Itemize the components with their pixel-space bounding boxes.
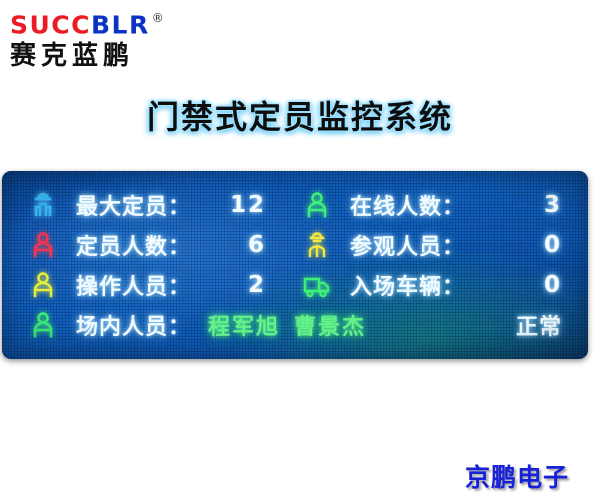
label-text: 在线人数： — [350, 189, 465, 221]
label-text: 参观人员： — [350, 229, 465, 261]
person-visitor-icon — [302, 225, 332, 265]
row-value-visitor-count: 0 — [494, 225, 562, 265]
led-content: 最大定员： 12 在线人数： — [2, 171, 588, 359]
label-text: 入场车辆： — [350, 269, 465, 301]
page-title: 门禁式定员监控系统 — [0, 92, 600, 138]
onsite-name: 程军旭 — [208, 309, 280, 341]
person-helmet-glyph — [30, 190, 56, 220]
person-helmet-icon — [28, 185, 58, 225]
label-text: 操作人员： — [76, 269, 191, 301]
person-visitor-glyph — [304, 230, 330, 260]
onsite-name: 曹景杰 — [294, 309, 366, 341]
value-text: 2 — [248, 272, 266, 298]
row-value-entered-vehicles: 0 — [494, 265, 562, 305]
row-value-online-count: 3 — [494, 185, 562, 225]
row-value-assigned-count: 6 — [208, 225, 266, 265]
led-row-onsite: 场内人员： 程军旭 曹景杰 正常 — [2, 305, 588, 345]
row-value-max-capacity: 12 — [208, 185, 266, 225]
value-text: 0 — [544, 232, 562, 258]
person-red-icon — [28, 225, 58, 265]
footer-company-logo: 京鹏电子 — [465, 458, 569, 494]
truck-icon — [302, 265, 332, 305]
value-text: 12 — [230, 192, 266, 218]
person-onsite-glyph — [30, 310, 56, 340]
onsite-name-list: 程军旭 曹景杰 — [208, 305, 478, 345]
person-red-glyph — [30, 230, 56, 260]
label-text: 场内人员： — [76, 309, 191, 341]
brand-logo: SUCCBLR® 赛克蓝鹏 — [10, 6, 210, 70]
brand-chinese-name: 赛克蓝鹏 — [10, 40, 210, 72]
led-display-panel: 最大定员： 12 在线人数： — [2, 171, 588, 359]
led-row: 最大定员： 12 在线人数： — [2, 185, 588, 225]
value-text: 0 — [544, 272, 562, 298]
person-online-glyph — [304, 190, 330, 220]
brand-wordmark-red: SUCC — [10, 10, 91, 39]
label-text: 定员人数： — [76, 229, 191, 261]
registered-trademark-icon: ® — [152, 11, 164, 25]
label-text: 最大定员： — [76, 189, 191, 221]
person-operator-glyph — [30, 270, 56, 300]
led-row: 定员人数： 6 — [2, 225, 588, 265]
led-row: 操作人员： 2 入场车辆： — [2, 265, 588, 305]
value-text: 6 — [248, 232, 266, 258]
brand-wordmark: SUCCBLR® — [10, 6, 210, 39]
person-online-icon — [302, 185, 332, 225]
person-operator-icon — [28, 265, 58, 305]
brand-wordmark-blue: BLR — [91, 10, 150, 39]
status-text: 正常 — [516, 309, 562, 341]
person-onsite-icon — [28, 305, 58, 345]
truck-glyph — [302, 270, 332, 300]
row-value-operator-count: 2 — [208, 265, 266, 305]
value-text: 3 — [544, 192, 562, 218]
status-badge: 正常 — [494, 305, 562, 345]
